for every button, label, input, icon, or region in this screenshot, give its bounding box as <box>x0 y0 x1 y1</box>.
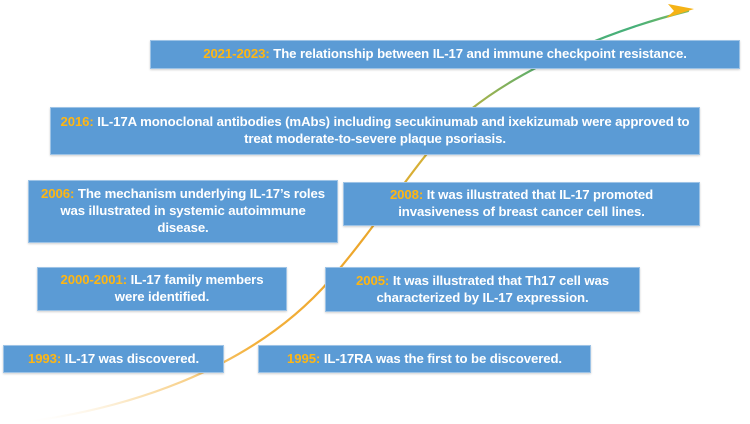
event-text: 2016: IL-17A monoclonal antibodies (mAbs… <box>58 114 692 148</box>
event-text: 1993: IL-17 was discovered. <box>11 351 216 368</box>
event-text: 2005: It was illustrated that Th17 cell … <box>333 273 632 307</box>
event-year: 2016: <box>60 114 93 129</box>
event-year: 2021-2023: <box>203 46 269 61</box>
event-year: 2008: <box>390 187 423 202</box>
event-description: IL-17RA was the first to be discovered. <box>324 351 562 366</box>
event-year: 2005: <box>356 273 389 288</box>
event-description: The relationship between IL-17 and immun… <box>273 46 687 61</box>
event-box-2021-2023[interactable]: 2021-2023: The relationship between IL-1… <box>150 40 740 69</box>
event-description: It was illustrated that IL-17 promoted i… <box>398 187 653 219</box>
event-text: 2021-2023: The relationship between IL-1… <box>158 46 732 63</box>
event-year: 2006: <box>41 186 74 201</box>
event-box-1993[interactable]: 1993: IL-17 was discovered. <box>3 345 224 373</box>
event-text: 1995: IL-17RA was the first to be discov… <box>266 351 583 368</box>
event-description: The mechanism underlying IL-17’s roles w… <box>60 186 325 235</box>
event-year: 1995: <box>287 351 320 366</box>
event-text: 2008: It was illustrated that IL-17 prom… <box>351 187 692 221</box>
event-description: It was illustrated that Th17 cell was ch… <box>376 273 609 305</box>
event-description: IL-17 family members were identified. <box>115 272 264 304</box>
event-box-2016[interactable]: 2016: IL-17A monoclonal antibodies (mAbs… <box>50 107 700 155</box>
event-box-2000-2001[interactable]: 2000-2001: IL-17 family members were ide… <box>37 267 287 311</box>
event-box-2006[interactable]: 2006: The mechanism underlying IL-17’s r… <box>28 180 338 243</box>
event-text: 2000-2001: IL-17 family members were ide… <box>45 272 279 306</box>
event-box-2005[interactable]: 2005: It was illustrated that Th17 cell … <box>325 267 640 312</box>
timeline-arrowhead <box>666 4 694 18</box>
event-year: 2000-2001: <box>61 272 127 287</box>
event-box-1995[interactable]: 1995: IL-17RA was the first to be discov… <box>258 345 591 373</box>
event-box-2008[interactable]: 2008: It was illustrated that IL-17 prom… <box>343 182 700 226</box>
timeline-diagram: 2021-2023: The relationship between IL-1… <box>0 0 750 424</box>
event-description: IL-17 was discovered. <box>65 351 199 366</box>
event-description: IL-17A monoclonal antibodies (mAbs) incl… <box>97 114 689 146</box>
event-year: 1993: <box>28 351 61 366</box>
event-text: 2006: The mechanism underlying IL-17’s r… <box>36 186 330 237</box>
